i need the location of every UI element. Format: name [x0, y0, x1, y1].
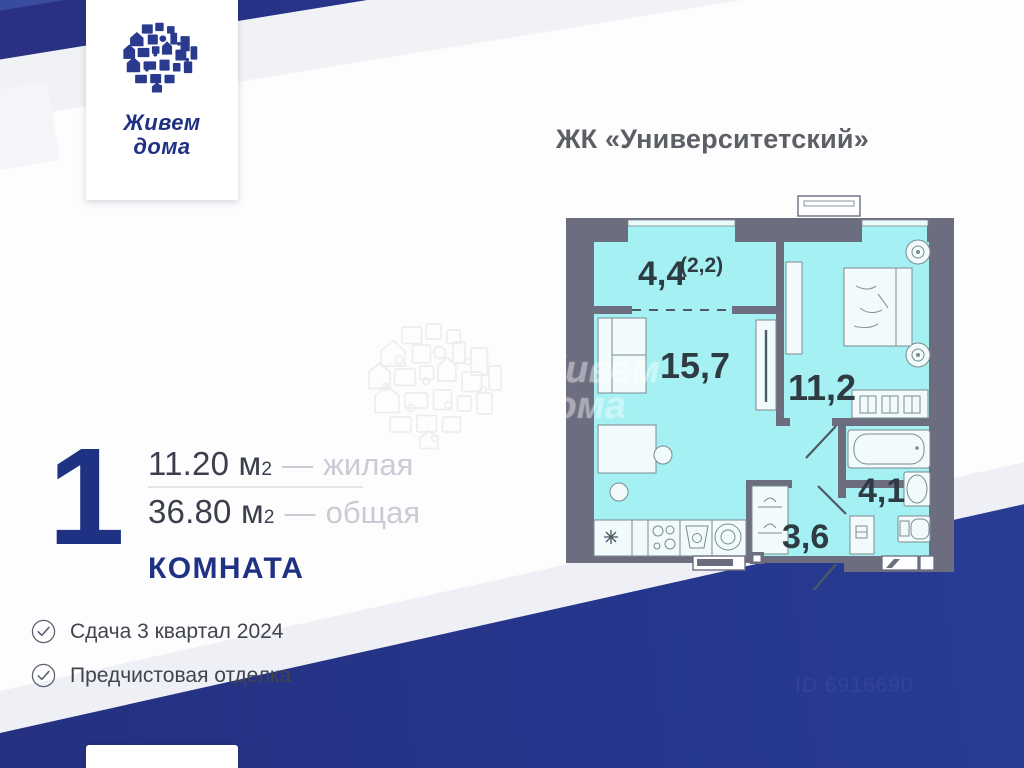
logo-text-line1: Живем	[123, 112, 200, 134]
check-circle-icon	[30, 662, 57, 689]
bed-icon	[844, 268, 912, 346]
features-list: Сдача 3 квартал 2024 Предчистовая отделк…	[30, 618, 291, 706]
refrigerator-icon	[604, 530, 618, 544]
list-item: Предчистовая отделка	[30, 662, 291, 689]
feature-label: Предчистовая отделка	[70, 664, 291, 688]
page-title: ЖК «Университетский»	[556, 124, 869, 155]
rooms-count-word: КОМНАТА	[148, 552, 304, 586]
floor-plan: .w{fill:#6d6d80;} .rm{fill:#a5f0f2;} .f{…	[560, 190, 960, 590]
check-circle-icon	[30, 618, 57, 645]
total-area-superscript: 2	[264, 507, 275, 529]
door-entrance	[812, 564, 836, 590]
water-heater-icon	[850, 516, 874, 554]
living-area-superscript: 2	[261, 459, 272, 481]
logo-text-line2: дома	[133, 136, 190, 158]
listing-id-watermark: ID 6916690	[795, 674, 914, 698]
total-area-dash: —	[285, 495, 316, 531]
watermark-heart-of-houses-icon	[348, 312, 528, 462]
total-area-row: 36.80 м2 — общая	[148, 493, 568, 531]
living-area-row: 11.20 м2 — жилая	[148, 445, 568, 483]
poster-canvas: Живем дома ЖК «Университетский»	[0, 0, 1024, 768]
areas-divider	[148, 486, 363, 488]
room-label-hall: 3,6	[782, 518, 829, 556]
living-area-dash: —	[282, 447, 313, 483]
bathtub-icon	[848, 430, 930, 468]
heart-of-houses-icon	[110, 16, 214, 100]
bottom-white-card	[86, 745, 238, 768]
washbasin-icon	[904, 472, 930, 506]
living-area-value: 11.20 м	[148, 445, 261, 483]
list-item: Сдача 3 квартал 2024	[30, 618, 291, 645]
room-sublabel-balcony: (2,2)	[680, 254, 723, 277]
wardrobe-row-icon	[852, 390, 928, 418]
room-label-balcony: 4,4	[638, 255, 685, 293]
living-area-label: жилая	[323, 447, 413, 483]
brand-logo-card: Живем дома	[86, 0, 238, 200]
areas-block: 11.20 м2 — жилая 36.80 м2 — общая	[148, 445, 568, 531]
sofa-icon	[598, 318, 646, 393]
total-area-value: 36.80 м	[148, 493, 264, 531]
toilet-icon	[898, 516, 930, 542]
rooms-count-number: 1	[48, 438, 125, 557]
room-label-living-kitchen: 15,7	[660, 345, 730, 386]
feature-label: Сдача 3 квартал 2024	[70, 620, 283, 644]
tall-wardrobe-icon	[756, 320, 776, 410]
left-white-band	[0, 81, 60, 227]
total-area-label: общая	[326, 495, 421, 531]
room-label-bedroom: 11,2	[788, 367, 856, 408]
room-label-bathroom: 4,1	[858, 472, 905, 510]
